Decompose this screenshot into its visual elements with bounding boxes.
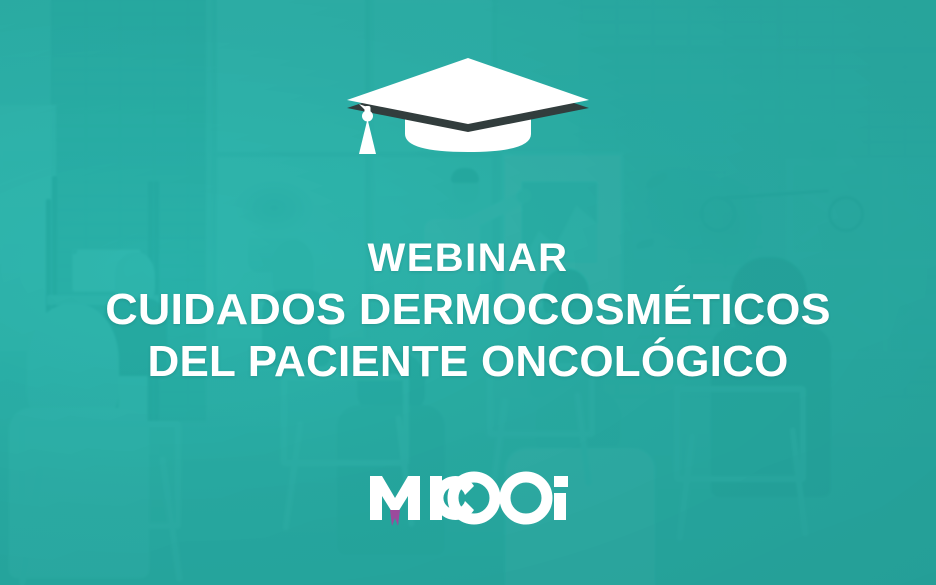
headline-block: WEBINAR CUIDADOS DERMOCOSMÉTICOS DEL PAC…: [0, 238, 936, 384]
micof-logo: [0, 470, 936, 528]
headline-line-main: CUIDADOS DERMOCOSMÉTICOS: [0, 288, 936, 332]
banner-content: WEBINAR CUIDADOS DERMOCOSMÉTICOS DEL PAC…: [0, 0, 936, 585]
headline-line-webinar: WEBINAR: [0, 238, 936, 278]
graduation-cap-icon: [0, 46, 936, 166]
webinar-banner: WEBINAR CUIDADOS DERMOCOSMÉTICOS DEL PAC…: [0, 0, 936, 585]
headline-line-subject: DEL PACIENTE ONCOLÓGICO: [0, 340, 936, 384]
